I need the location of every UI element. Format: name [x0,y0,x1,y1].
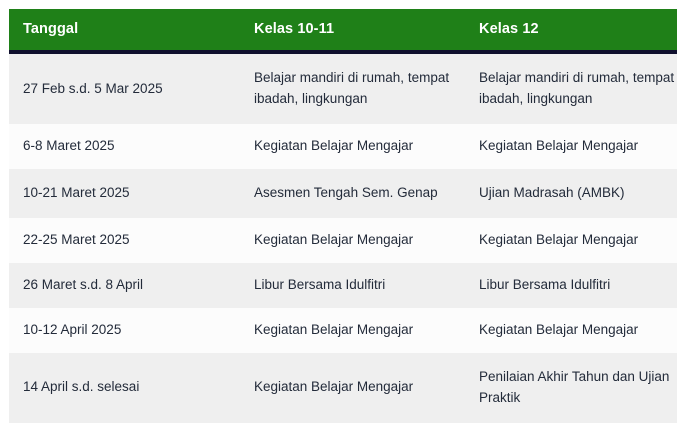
column-header-kelas-10-11: Kelas 10-11 [247,9,472,52]
cell-tanggal: 14 April s.d. selesai [9,353,247,423]
column-header-kelas-12: Kelas 12 [472,9,677,52]
cell-tanggal: 27 Feb s.d. 5 Mar 2025 [9,52,247,124]
cell-kelas-12: Belajar mandiri di rumah, tempat ibadah,… [472,52,677,124]
cell-kelas-10-11: Kegiatan Belajar Mengajar [247,124,472,169]
cell-tanggal: 10-12 April 2025 [9,308,247,353]
cell-kelas-10-11: Belajar mandiri di rumah, tempat ibadah,… [247,52,472,124]
cell-kelas-12: Penilaian Akhir Tahun dan Ujian Praktik [472,353,677,423]
column-header-tanggal: Tanggal [9,9,247,52]
cell-tanggal: 26 Maret s.d. 8 April [9,263,247,308]
table-row: 26 Maret s.d. 8 April Libur Bersama Idul… [9,263,677,308]
cell-tanggal: 6-8 Maret 2025 [9,124,247,169]
cell-kelas-10-11: Kegiatan Belajar Mengajar [247,218,472,263]
schedule-table-container: Tanggal Kelas 10-11 Kelas 12 27 Feb s.d.… [9,9,665,423]
table-row: 10-21 Maret 2025 Asesmen Tengah Sem. Gen… [9,169,677,218]
cell-kelas-12: Kegiatan Belajar Mengajar [472,308,677,353]
cell-kelas-10-11: Kegiatan Belajar Mengajar [247,353,472,423]
schedule-table: Tanggal Kelas 10-11 Kelas 12 27 Feb s.d.… [9,9,677,423]
cell-tanggal: 10-21 Maret 2025 [9,169,247,218]
cell-kelas-10-11: Libur Bersama Idulfitri [247,263,472,308]
table-header: Tanggal Kelas 10-11 Kelas 12 [9,9,677,52]
table-header-row: Tanggal Kelas 10-11 Kelas 12 [9,9,677,52]
cell-kelas-10-11: Kegiatan Belajar Mengajar [247,308,472,353]
table-row: 27 Feb s.d. 5 Mar 2025 Belajar mandiri d… [9,52,677,124]
cell-kelas-12: Kegiatan Belajar Mengajar [472,218,677,263]
cell-kelas-12: Libur Bersama Idulfitri [472,263,677,308]
table-body: 27 Feb s.d. 5 Mar 2025 Belajar mandiri d… [9,52,677,422]
table-row: 10-12 April 2025 Kegiatan Belajar Mengaj… [9,308,677,353]
table-row: 14 April s.d. selesai Kegiatan Belajar M… [9,353,677,423]
cell-kelas-12: Ujian Madrasah (AMBK) [472,169,677,218]
table-row: 22-25 Maret 2025 Kegiatan Belajar Mengaj… [9,218,677,263]
cell-tanggal: 22-25 Maret 2025 [9,218,247,263]
cell-kelas-12: Kegiatan Belajar Mengajar [472,124,677,169]
cell-kelas-10-11: Asesmen Tengah Sem. Genap [247,169,472,218]
table-row: 6-8 Maret 2025 Kegiatan Belajar Mengajar… [9,124,677,169]
